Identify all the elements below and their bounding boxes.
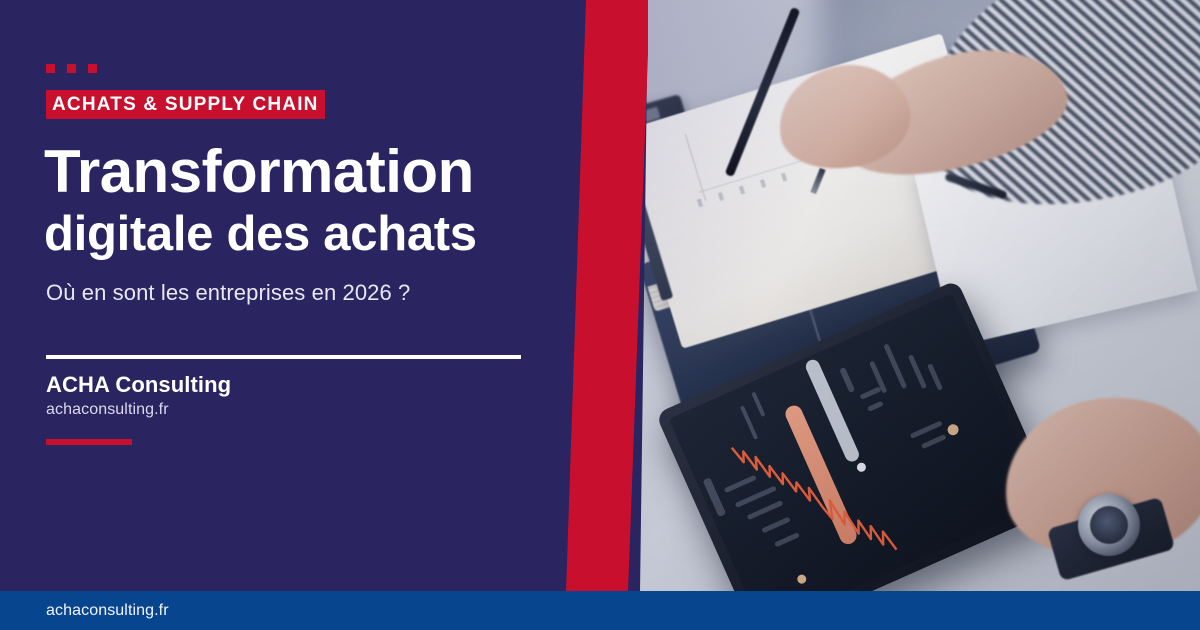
tablet-line-chart [723,390,906,592]
square-icon [46,64,55,73]
watch-dial [1090,506,1128,544]
decorative-squares [46,64,97,73]
footer-url: achaconsulting.fr [46,591,169,630]
headline-line-1: Transformation [44,142,564,202]
footer-bar: achaconsulting.fr [0,591,1200,630]
photo-business-desk [600,0,1200,592]
square-icon [88,64,97,73]
subtitle: Où en sont les entreprises en 2026 ? [46,280,566,306]
square-icon [67,64,76,73]
brand-name: ACHA Consulting [46,372,231,398]
divider-line [46,355,521,359]
brand-url: achaconsulting.fr [46,401,169,419]
headline-line-2: digitale des achats [44,210,564,259]
red-accent-bar [46,439,132,445]
category-badge: ACHATS & SUPPLY CHAIN [46,90,325,119]
social-share-banner: ACHATS & SUPPLY CHAIN Transformation dig… [0,0,1200,630]
page-title: Transformation digitale des achats [44,142,564,259]
